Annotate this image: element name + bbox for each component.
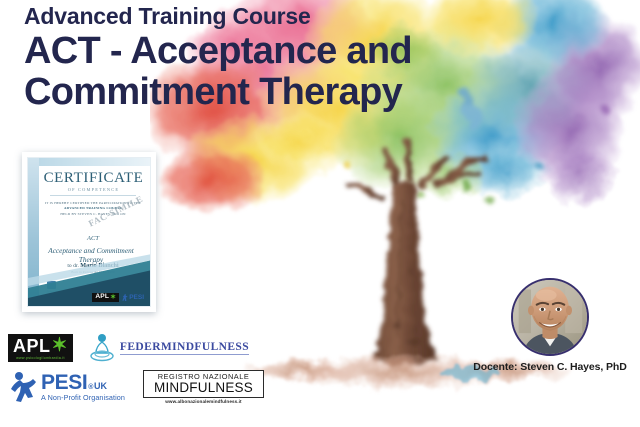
- apl-logo-url: www.psicologilombardia.it: [16, 357, 65, 361]
- running-figure-icon: [122, 294, 128, 301]
- partner-logo-row-1: APL ✶ www.psicologilombardia.it FEDERMIN…: [8, 333, 264, 363]
- page-title: ACT - Acceptance and Commitment Therapy: [24, 31, 624, 113]
- certificate-pesi-label: PESI: [129, 294, 144, 301]
- certificate-title: CERTIFICATE: [42, 171, 145, 186]
- registro-nazionale-mindfulness-logo[interactable]: REGISTRO NAZIONALE MINDFULNESS www.albon…: [143, 370, 264, 404]
- partner-logos: APL ✶ www.psicologilombardia.it FEDERMIN…: [8, 333, 264, 404]
- certificate-inner: CERTIFICATE OF COMPETENCE IT IS HEREBY C…: [27, 157, 151, 307]
- pesi-logo-text: PESI ® UK A Non-Profit Organisation: [41, 372, 125, 401]
- pesi-logo-mark: PESI ® UK: [41, 372, 125, 393]
- poster-canvas: Advanced Training Course ACT - Acceptanc…: [0, 0, 640, 427]
- poster-headline: Advanced Training Course ACT - Acceptanc…: [24, 4, 624, 113]
- apl-logo-label: APL: [13, 337, 51, 355]
- federmindfulness-label: FEDERMINDFULNESS: [120, 341, 249, 355]
- asterisk-icon: ✶: [110, 294, 116, 301]
- presenter-caption: Docente: Steven C. Hayes, PhD: [470, 361, 630, 373]
- certificate-footer-logos: APL ✶ PESI: [92, 293, 144, 302]
- presenter-block: Docente: Steven C. Hayes, PhD: [470, 278, 630, 373]
- apl-logo-mark: APL ✶: [13, 337, 68, 355]
- certificate-subtitle: OF COMPETENCE: [42, 187, 145, 192]
- certificate-pesi-logo: PESI: [122, 294, 144, 301]
- partner-logo-row-2: PESI ® UK A Non-Profit Organisation REGI…: [8, 370, 264, 404]
- pesi-logo-label: PESI: [41, 372, 87, 393]
- certificate-apl-label: APL: [95, 294, 109, 301]
- presenter-portrait-image: [513, 280, 587, 354]
- certificate-course-abbreviation: ACT: [44, 235, 142, 242]
- apl-logo[interactable]: APL ✶ www.psicologilombardia.it: [8, 334, 73, 363]
- certificate-preview[interactable]: CERTIFICATE OF COMPETENCE IT IS HEREBY C…: [22, 152, 156, 312]
- registro-logo-url: www.albonazionalemindfulness.it: [165, 399, 241, 404]
- registered-icon: ®: [88, 384, 93, 391]
- page-title-line-1: ACT - Acceptance and: [24, 30, 412, 72]
- pesi-logo[interactable]: PESI ® UK A Non-Profit Organisation: [8, 371, 125, 403]
- certificate-top-stripe: [39, 158, 150, 166]
- avatar[interactable]: [511, 278, 589, 356]
- certificate-divider: [50, 195, 136, 196]
- federmindfulness-logo[interactable]: FEDERMINDFULNESS: [89, 333, 249, 363]
- registro-logo-box: REGISTRO NAZIONALE MINDFULNESS: [143, 370, 264, 398]
- asterisk-icon: ✶: [52, 339, 68, 352]
- registro-logo-main-label: MINDFULNESS: [154, 381, 253, 396]
- pesi-logo-tagline: A Non-Profit Organisation: [41, 394, 125, 401]
- certificate-apl-logo: APL ✶: [92, 293, 119, 302]
- running-figure-icon: [8, 371, 38, 403]
- pesi-logo-region: UK: [94, 382, 107, 391]
- page-title-line-2: Commitment Therapy: [24, 72, 624, 113]
- meditating-figure-icon: [89, 333, 115, 363]
- course-kicker: Advanced Training Course: [24, 4, 624, 30]
